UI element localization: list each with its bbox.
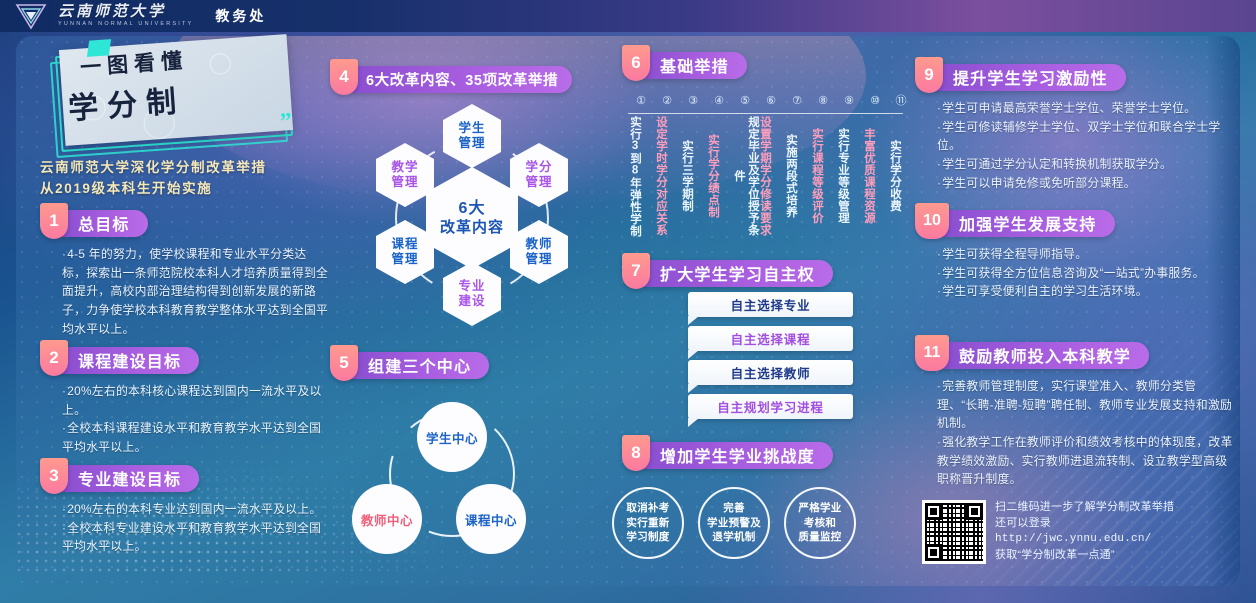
- section-9-number: 9: [915, 57, 943, 93]
- circle-student-center: 学生中心: [417, 402, 487, 472]
- section-8-title: 增加学生学业挑战度: [644, 442, 833, 469]
- autonomy-tag-list: 自主选择专业 自主选择课程 自主选择教师 自主规划学习进程: [680, 292, 910, 428]
- section-2-badge: 2 课程建设目标: [40, 345, 330, 375]
- section-3-badge: 3 专业建设目标: [40, 463, 330, 493]
- tag-plan-progress: 自主规划学习进程: [688, 394, 853, 419]
- section-9: 9 提升学生学习激励性 学生可申请最高荣誉学士学位、荣誉学士学位。 学生可修读辅…: [915, 62, 1235, 192]
- university-name-cn: 云南师范大学: [58, 5, 193, 20]
- section-8-number: 8: [622, 435, 650, 471]
- measure-item-4: ④ 实行学分绩点制: [706, 96, 732, 241]
- section-4-badge: 4 6大改革内容、35项改革举措: [330, 64, 572, 94]
- section-3-paragraph: 20%左右的本科专业达到国内一流水平及以上。: [62, 500, 330, 519]
- quote-mark-icon: ”: [279, 109, 293, 137]
- subtitle-line-1: 云南师范大学深化学分制改革举措: [40, 158, 340, 179]
- section-6: 6 基础举措: [622, 50, 747, 80]
- section-7-number: 7: [622, 253, 650, 289]
- section-10: 10 加强学生发展支持 学生可获得全程导师指导。 学生可获得全方位信息咨询及“一…: [915, 208, 1235, 301]
- section-1-number: 1: [40, 203, 68, 239]
- section-6-title: 基础举措: [644, 52, 747, 79]
- section-2-paragraph: 20%左右的本科核心课程达到国内一流水平及以上。: [62, 382, 330, 419]
- section-11-title: 鼓励教师投入本科教学: [943, 342, 1149, 369]
- section-5: 5 组建三个中心: [330, 350, 489, 380]
- infographic-poster: 云南师范大学 YUNNAN NORMAL UNIVERSITY 教务处 一图看懂…: [0, 0, 1256, 603]
- title-card-corner-accent: [87, 39, 111, 57]
- section-10-number: 10: [915, 203, 949, 239]
- tag-choose-teacher: 自主选择教师: [688, 360, 853, 385]
- qr-code-icon[interactable]: [922, 500, 986, 564]
- tag-choose-course: 自主选择课程: [688, 326, 853, 351]
- section-5-number: 5: [330, 345, 358, 381]
- section-9-paragraph: 学生可通过学分认定和转换机制获取学分。: [937, 155, 1235, 174]
- section-2-number: 2: [40, 340, 68, 376]
- section-11-badge: 11 鼓励教师投入本科教学: [915, 340, 1235, 370]
- section-3-number: 3: [40, 458, 68, 494]
- page-header: 云南师范大学 YUNNAN NORMAL UNIVERSITY 教务处: [0, 0, 1256, 32]
- qr-caption-line-1: 扫二维码进一步了解学分制改革举措: [995, 500, 1174, 516]
- section-9-paragraph: 学生可申请最高荣誉学士学位、荣誉学士学位。: [937, 99, 1235, 118]
- university-name-en: YUNNAN NORMAL UNIVERSITY: [58, 22, 193, 28]
- section-8: 8 增加学生学业挑战度: [622, 440, 833, 470]
- section-10-title: 加强学生发展支持: [943, 210, 1115, 237]
- measure-item-5: ⑤ 规定毕业及学位授予条件: [732, 96, 758, 241]
- qr-finder-bottom-left: [925, 544, 942, 561]
- qr-caption-line-3: 获取“学分制改革一点通”: [995, 548, 1174, 564]
- section-10-body: 学生可获得全程导师指导。 学生可获得全方位信息咨询及“一站式”办事服务。 学生可…: [915, 245, 1235, 301]
- challenge-circle-makeup-exam: 取消补考 实行重新 学习制度: [612, 487, 684, 559]
- section-4-title: 6大改革内容、35项改革举措: [352, 66, 572, 93]
- section-3-title: 专业建设目标: [62, 465, 199, 492]
- circle-teacher-center: 教师中心: [352, 484, 422, 554]
- section-2-paragraph: 全校本科课程建设水平和教育教学水平达到全国平均水平以上。: [62, 419, 330, 456]
- qr-caption-line-2: 还可以登录: [995, 516, 1174, 532]
- section-11-number: 11: [915, 335, 949, 371]
- qr-finder-top-right: [966, 503, 983, 520]
- section-9-title: 提升学生学习激励性: [937, 64, 1126, 91]
- section-7: 7 扩大学生学习自主权: [622, 258, 833, 288]
- qr-caption: 扫二维码进一步了解学分制改革举措 还可以登录 http://jwc.ynnu.e…: [995, 500, 1174, 564]
- section-7-title: 扩大学生学习自主权: [644, 260, 833, 287]
- ynnu-triangle-logo-icon: [14, 2, 48, 30]
- section-10-paragraph: 学生可获得全程导师指导。: [937, 245, 1235, 264]
- qr-finder-top-left: [925, 503, 942, 520]
- subtitle-line-2: 从2019级本科生开始实施: [40, 179, 340, 200]
- section-9-badge: 9 提升学生学习激励性: [915, 62, 1235, 92]
- measure-item-2: ② 设定学时学分对应关系: [654, 96, 680, 241]
- challenge-circles: 取消补考 实行重新 学习制度 完善 学业预警及 退学机制 严格学业 考核和 质量…: [612, 487, 922, 582]
- university-name: 云南师范大学 YUNNAN NORMAL UNIVERSITY: [58, 5, 193, 28]
- six-reform-hex-diagram: 学生 管理 学分 管理 教师 管理 专业 建设 课程 管理 教学 管理 6大 改…: [352, 98, 592, 338]
- section-2-title: 课程建设目标: [62, 347, 199, 374]
- section-1-paragraph: 4-5 年的努力，使学校课程和专业水平分类达标，探索出一条师范院校本科人才培养质…: [62, 245, 330, 338]
- section-3-body: 20%左右的本科专业达到国内一流水平及以上。 全校本科专业建设水平和教育教学水平…: [40, 500, 330, 556]
- measure-item-11: ⑪ 实行学分收费: [888, 96, 914, 241]
- section-5-badge: 5 组建三个中心: [330, 350, 489, 380]
- section-8-badge: 8 增加学生学业挑战度: [622, 440, 833, 470]
- section-1-badge: 1 总目标: [40, 208, 330, 238]
- section-4-number: 4: [330, 59, 358, 95]
- qr-url[interactable]: http://jwc.ynnu.edu.cn/: [995, 532, 1174, 548]
- section-10-paragraph: 学生可获得全方位信息咨询及“一站式”办事服务。: [937, 264, 1235, 283]
- subtitle-block: 云南师范大学深化学分制改革举措 从2019级本科生开始实施: [40, 158, 340, 200]
- measure-item-8: ⑧ 实行课程等级评价: [810, 96, 836, 241]
- measure-item-6: ⑥ 设置学期学分修读要求: [758, 96, 784, 241]
- measure-item-7: ⑦ 实施两段式培养: [784, 96, 810, 241]
- section-10-badge: 10 加强学生发展支持: [915, 208, 1235, 238]
- tag-choose-major: 自主选择专业: [688, 292, 853, 317]
- title-card: 一图看懂 学分制 ”: [40, 34, 310, 154]
- department-label: 教务处: [215, 6, 266, 26]
- section-3-paragraph: 全校本科专业建设水平和教育教学水平达到全国平均水平以上。: [62, 519, 330, 556]
- section-4: 4 6大改革内容、35项改革举措: [330, 64, 572, 94]
- measure-item-1: ① 实行3到8年弹性学制: [628, 96, 654, 241]
- circle-course-center: 课程中心: [456, 484, 526, 554]
- challenge-circle-quality-control: 严格学业 考核和 质量监控: [784, 487, 856, 559]
- measure-item-10: ⑩ 丰富优质课程资源: [862, 96, 888, 241]
- qr-block: 扫二维码进一步了解学分制改革举措 还可以登录 http://jwc.ynnu.e…: [922, 500, 1174, 564]
- qr-code-pattern: [925, 503, 983, 561]
- measure-item-3: ③ 实行三学期制: [680, 96, 706, 241]
- section-10-paragraph: 学生可享受便利自主的学习生活环境。: [937, 282, 1235, 301]
- basic-measures-list: ① 实行3到8年弹性学制 ② 设定学时学分对应关系 ③ 实行三学期制 ④ 实行学…: [628, 96, 918, 251]
- section-1: 1 总目标 4-5 年的努力，使学校课程和专业水平分类达标，探索出一条师范院校本…: [40, 208, 330, 338]
- section-7-badge: 7 扩大学生学习自主权: [622, 258, 833, 288]
- challenge-circle-warning-mechanism: 完善 学业预警及 退学机制: [698, 487, 770, 559]
- title-line-2: 学分制: [67, 76, 187, 128]
- measure-item-9: ⑨ 实行专业等级管理: [836, 96, 862, 241]
- section-1-title: 总目标: [62, 210, 148, 237]
- section-6-badge: 6 基础举措: [622, 50, 747, 80]
- section-11: 11 鼓励教师投入本科教学 完善教师管理制度，实行课堂准入、教师分类管理、“长聘…: [915, 340, 1235, 489]
- section-5-title: 组建三个中心: [352, 352, 489, 379]
- section-9-paragraph: 学生可修读辅修学士学位、双学士学位和联合学士学位。: [937, 118, 1235, 155]
- three-centers-diagram: 学生中心 教师中心 课程中心: [336, 398, 586, 563]
- section-11-paragraph: 强化教学工作在教师评价和绩效考核中的体现度，改革教学绩效激励、实行教师进退流转制…: [937, 433, 1235, 489]
- section-11-body: 完善教师管理制度，实行课堂准入、教师分类管理、“长聘-准聘-短聘”聘任制、教师专…: [915, 377, 1235, 489]
- section-9-body: 学生可申请最高荣誉学士学位、荣誉学士学位。 学生可修读辅修学士学位、双学士学位和…: [915, 99, 1235, 192]
- section-3: 3 专业建设目标 20%左右的本科专业达到国内一流水平及以上。 全校本科专业建设…: [40, 463, 330, 556]
- section-6-number: 6: [622, 45, 650, 81]
- section-2: 2 课程建设目标 20%左右的本科核心课程达到国内一流水平及以上。 全校本科课程…: [40, 345, 330, 457]
- section-1-body: 4-5 年的努力，使学校课程和专业水平分类达标，探索出一条师范院校本科人才培养质…: [40, 245, 330, 338]
- section-2-body: 20%左右的本科核心课程达到国内一流水平及以上。 全校本科课程建设水平和教育教学…: [40, 382, 330, 457]
- section-9-paragraph: 学生可以申请免修或免听部分课程。: [937, 174, 1235, 193]
- section-11-paragraph: 完善教师管理制度，实行课堂准入、教师分类管理、“长聘-准聘-短聘”聘任制、教师专…: [937, 377, 1235, 433]
